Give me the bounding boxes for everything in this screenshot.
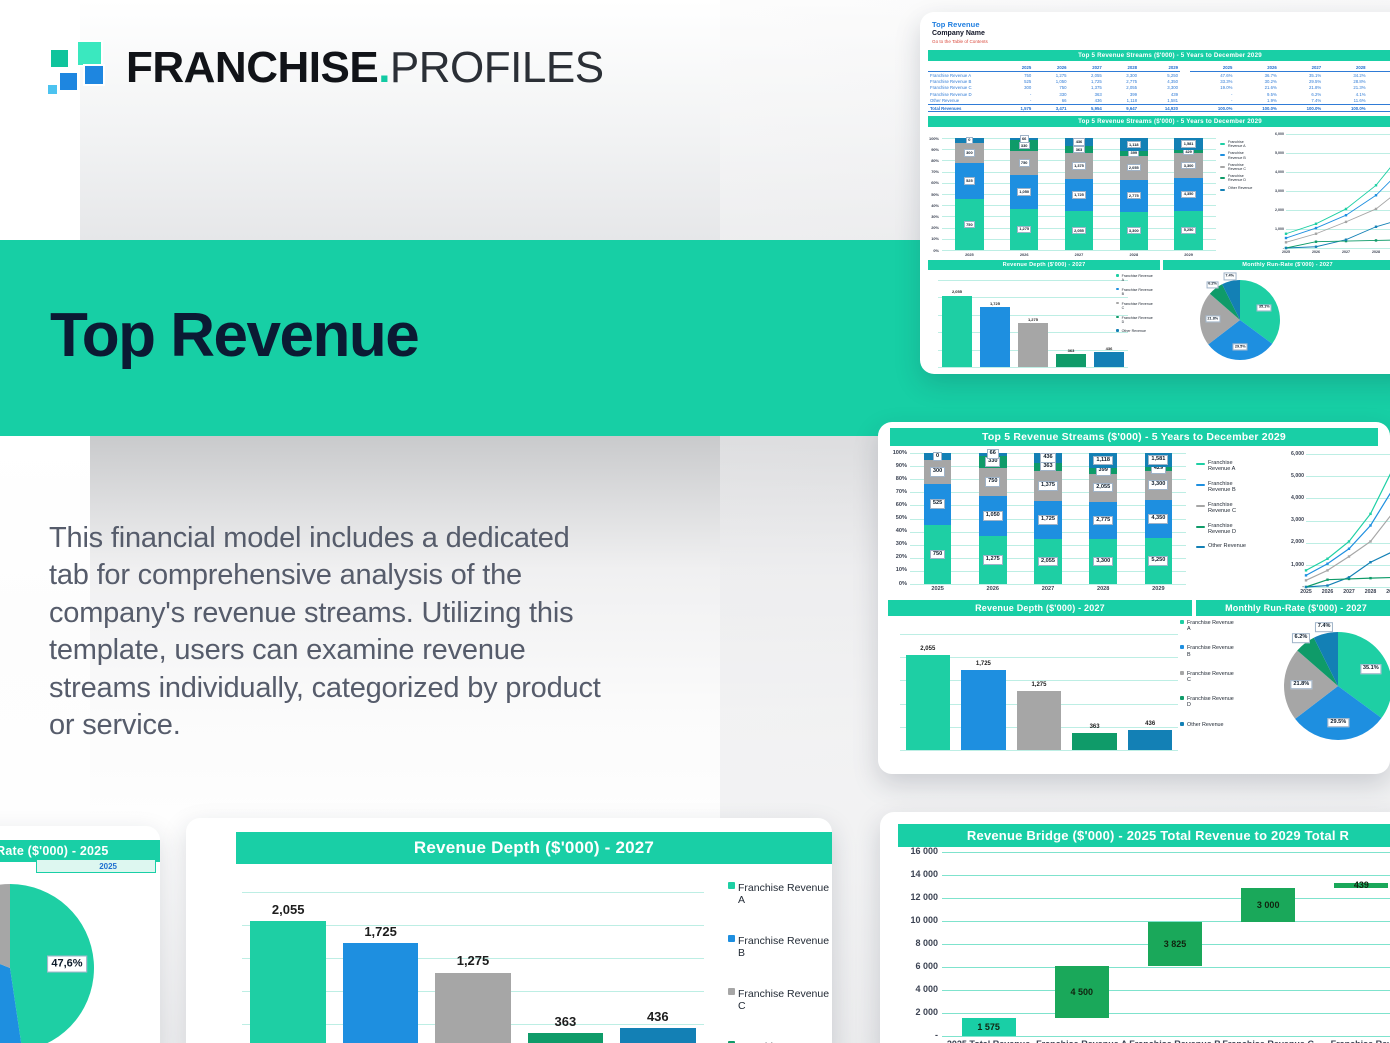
workbook-preview-panel[interactable]: Top Revenue Company Name Go to the Table… — [920, 12, 1390, 374]
bar[interactable] — [1094, 352, 1124, 367]
legend-label: Franchise Revenue D — [1187, 696, 1234, 708]
gridline — [942, 967, 1390, 968]
run-rate-title-strip-2: Monthly Run-Rate ($'000) - 2027 — [1196, 600, 1390, 616]
legend-label: FranchiseRevenue C — [1208, 502, 1236, 515]
x-axis-tick: 2025 Total Revenue — [942, 1039, 1035, 1043]
line-chart-small[interactable]: -1,0002,0003,0004,0005,0006,000202520262… — [1270, 130, 1390, 258]
legend-label: Franchise Revenue C — [1122, 302, 1153, 310]
run-rate-pie-2025[interactable]: 47,6%33,3%19,0%0,0%0,0% — [0, 878, 130, 1043]
legend-label: FranchiseRevenue D — [1208, 523, 1236, 536]
bar[interactable] — [980, 307, 1010, 367]
legend-item: Franchise Revenue B — [1180, 645, 1234, 657]
data-label: 2,775 — [1127, 192, 1141, 199]
x-axis-tick: 2026 — [1317, 589, 1339, 595]
squares-logo-icon — [46, 40, 108, 96]
stacked-segment: 2,055 — [1120, 156, 1148, 180]
table-row: Franchise Revenue A7501,2752,0553,3005,2… — [928, 72, 1390, 79]
stacked-segment: 1,275 — [1010, 209, 1038, 250]
logo-square-blue-small — [58, 71, 79, 92]
waterfall-value-label: 4 500 — [1055, 987, 1109, 997]
data-label: 5,250 — [1148, 556, 1168, 566]
bar-value-label: 363 — [528, 1014, 604, 1029]
brand-logo: FRANCHISE.PROFILES — [46, 40, 604, 96]
brand-name-light: PROFILES — [390, 43, 604, 92]
legend-item: Franchise Revenue D — [1116, 316, 1153, 324]
stacked-segment: 3,300 — [1120, 212, 1148, 250]
legend-swatch — [728, 988, 735, 995]
stacked-segment: 399 — [1120, 151, 1148, 156]
y-axis-tick: 4 000 — [888, 984, 938, 994]
legend-marker — [1196, 505, 1205, 507]
stacked-segment: 1,581 — [1145, 453, 1173, 467]
pie-slice[interactable] — [0, 884, 10, 968]
stacked-bar[interactable]: 5,2504,3503,3004291,581 — [1145, 453, 1173, 584]
gridline — [942, 898, 1390, 899]
y-axis-tick: 70% — [928, 169, 939, 174]
stacked-segment: 363 — [1034, 463, 1062, 471]
bar[interactable] — [1128, 730, 1172, 750]
legend-swatch — [1116, 274, 1119, 277]
legend-marker — [1196, 546, 1205, 548]
stacked-segment: 5,250 — [1145, 538, 1173, 584]
data-label: 0 — [966, 137, 973, 144]
stacked-segment: 0 — [955, 138, 983, 143]
data-label: 1,375 — [1038, 481, 1058, 491]
sheet-title: Top Revenue — [932, 20, 1390, 29]
revenue-depth-chart-big[interactable]: 2,0551,7251,275363436 — [226, 866, 706, 1043]
data-label: 1,275 — [983, 555, 1003, 565]
bar-value-label: 363 — [1072, 724, 1116, 730]
legend-label: FranchiseRevenue A — [1228, 140, 1246, 148]
gridline — [938, 367, 1128, 368]
company-name: Company Name — [932, 30, 1390, 37]
data-label: 1,581 — [1181, 140, 1195, 147]
y-axis-tick: 60% — [888, 502, 907, 508]
bar-value-label: 363 — [1056, 348, 1086, 353]
stacked-segment: 1,050 — [1010, 175, 1038, 209]
data-label: 1,050 — [983, 511, 1003, 521]
data-label: 0 — [933, 452, 942, 462]
bar[interactable] — [1017, 691, 1061, 750]
bar-value-label: 1,275 — [1018, 317, 1048, 322]
bar[interactable] — [961, 670, 1005, 750]
data-label: 1,050 — [1017, 188, 1031, 195]
legend-swatch — [1116, 329, 1119, 332]
bar[interactable] — [343, 943, 419, 1043]
data-label: 66 — [1020, 135, 1029, 142]
data-label: 66 — [987, 449, 999, 459]
y-axis-tick: 20% — [888, 554, 907, 560]
legend-swatch — [1116, 302, 1119, 305]
y-axis-tick: 40% — [888, 528, 907, 534]
data-label: 1,725 — [1072, 191, 1086, 198]
gridline — [938, 280, 1128, 281]
th-2026-abs: 2026 — [1033, 64, 1068, 72]
legend-label: Other Revenue — [1122, 329, 1146, 333]
legend-swatch — [728, 882, 735, 889]
legend-item: FranchiseRevenue D — [1196, 523, 1246, 536]
stacked-chart-legend-large: FranchiseRevenue AFranchiseRevenue BFran… — [1196, 460, 1246, 558]
stacked-bar[interactable]: 5,2504,3503,3004291,581 — [1174, 138, 1202, 250]
x-axis-tick: 2026 — [1301, 250, 1331, 254]
x-axis-tick: Franchise Revenue B — [1128, 1039, 1221, 1043]
data-label: 1,375 — [1072, 162, 1086, 169]
legend-item: Franchise Revenue C — [1116, 302, 1153, 310]
th-2029-pct: 2029 — [1368, 64, 1390, 72]
legend-marker — [1220, 166, 1225, 168]
pie-data-label: 7.4% — [1223, 273, 1236, 280]
stacked-segment: 2,775 — [1120, 180, 1148, 212]
th-2028-abs: 2028 — [1104, 64, 1139, 72]
logo-square-green-large — [76, 40, 103, 67]
x-axis-tick: 2028 — [1106, 252, 1161, 257]
stacked-segment: 1,725 — [1065, 179, 1093, 211]
table-title-strip: Top 5 Revenue Streams ($'000) - 5 Years … — [928, 50, 1390, 61]
gridline — [942, 250, 1216, 251]
bar-value-label: 1,275 — [1017, 682, 1061, 688]
data-label: 525 — [930, 499, 945, 509]
y-axis-tick: 100% — [888, 450, 907, 456]
stacked-segment: 399 — [1089, 468, 1117, 473]
bar[interactable] — [620, 1028, 696, 1043]
x-axis-tick: 2027 — [1338, 589, 1360, 595]
legend-item: FranchiseRevenue D — [1220, 174, 1252, 182]
y-axis-tick: 50% — [928, 192, 939, 197]
bar[interactable] — [942, 296, 972, 368]
stacked-bar[interactable]: 7505253000 — [924, 453, 952, 584]
table-header-row: 2025 2026 2027 2028 2029 2025 2026 2027 … — [928, 64, 1390, 72]
y-axis-tick: 50% — [888, 515, 907, 521]
pie-slices[interactable] — [1172, 270, 1312, 374]
table-total-row: Total Revenues1,5753,4715,9549,64714,920… — [928, 104, 1390, 111]
stacked-bar-chart-small[interactable]: 0%10%20%30%40%50%60%70%80%90%100%7505253… — [928, 134, 1218, 259]
y-axis-tick: 30% — [928, 214, 939, 219]
bar[interactable] — [250, 921, 326, 1043]
pie-data-label: 47,6% — [47, 955, 87, 972]
x-axis-tick: Franchise Revenue C — [1222, 1039, 1315, 1043]
legend-marker — [1220, 189, 1225, 191]
revenue-depth-legend-large: Franchise Revenue AFranchise Revenue BFr… — [1180, 620, 1234, 741]
gridline — [942, 875, 1390, 876]
y-axis-tick: - — [888, 1030, 938, 1040]
gridline — [900, 750, 1178, 751]
stacked-bar[interactable]: 2,0551,7251,375363436 — [1034, 453, 1062, 584]
stacked-segment: 1,118 — [1120, 138, 1148, 151]
gridline — [942, 990, 1390, 991]
data-label: 4,350 — [1181, 191, 1195, 198]
stacked-segment: 1,375 — [1065, 153, 1093, 179]
y-axis-tick: 10 000 — [888, 915, 938, 925]
legend-swatch — [1180, 696, 1184, 700]
stacked-bar[interactable]: 7505253000 — [955, 138, 983, 250]
bar-value-label: 1,725 — [343, 924, 419, 939]
stacked-bar[interactable]: 1,2751,05075033066 — [1010, 138, 1038, 250]
waterfall-value-label: 3 825 — [1148, 939, 1202, 949]
logo-square-blue-large — [83, 64, 105, 86]
stacked-segment: 1,275 — [979, 536, 1007, 584]
stacked-bar[interactable]: 3,3002,7752,0553991,118 — [1089, 453, 1117, 584]
legend-label: Franchise Revenue C — [1187, 671, 1234, 683]
x-axis-tick: 2029 — [1131, 586, 1186, 592]
legend-label: Franchise Revenue D — [1122, 316, 1153, 324]
stacked-segment: 750 — [924, 525, 952, 584]
y-axis-tick: 90% — [888, 463, 907, 469]
bar[interactable] — [435, 973, 511, 1043]
waterfall-bar[interactable]: 439 — [1334, 883, 1388, 888]
line-series-group — [1276, 448, 1390, 603]
x-axis-tick: 2028 — [1360, 589, 1382, 595]
pie-data-label: 35.1% — [1257, 304, 1272, 311]
legend-label: FranchiseRevenue D — [1228, 174, 1246, 182]
stacked-segment: 0 — [924, 453, 952, 460]
revenue-depth-chart-large[interactable]: 2,0551,7251,275363436 — [890, 620, 1180, 760]
th-2029-abs: 2029 — [1139, 64, 1180, 72]
stacked-segment: 2,775 — [1089, 502, 1117, 540]
stacked-segment: 3,300 — [1145, 471, 1173, 500]
bar-value-label: 1,725 — [961, 661, 1005, 667]
y-axis-tick: 70% — [888, 489, 907, 495]
legend-item: Franchise Revenue D — [1180, 696, 1234, 708]
revenue-depth-title-strip-2: Revenue Depth ($'000) - 2027 — [888, 600, 1192, 616]
legend-item: Franchise Revenue A — [1180, 620, 1234, 632]
stacked-segment: 750 — [1010, 151, 1038, 175]
y-axis-tick: 14 000 — [888, 869, 938, 879]
revenue-bridge-panel[interactable]: Revenue Bridge ($'000) - 2025 Total Reve… — [880, 812, 1390, 1043]
bar-value-label: 436 — [1094, 346, 1124, 351]
legend-item: Franchise Revenue B — [728, 935, 829, 959]
legend-item: FranchiseRevenue A — [1220, 140, 1252, 148]
bar-value-label: 1,725 — [980, 301, 1010, 306]
y-axis-tick: 100% — [928, 136, 939, 141]
waterfall-value-label: 439 — [1334, 880, 1388, 890]
data-label: 3,300 — [1148, 480, 1168, 490]
th-2026-pct: 2026 — [1234, 64, 1278, 72]
run-rate-title-strip-1: Monthly Run-Rate ($'000) - 2027 — [1163, 260, 1390, 270]
legend-swatch — [728, 935, 735, 942]
waterfall-bar[interactable]: 3 825 — [1148, 922, 1202, 966]
stacked-segment: 1,725 — [1034, 501, 1062, 539]
gridline — [942, 852, 1390, 853]
revenue-depth-title-big: Revenue Depth ($'000) - 2027 — [236, 832, 832, 864]
page-description: This financial model includes a dedicate… — [49, 520, 609, 744]
x-axis-tick: 2028 — [1361, 250, 1390, 254]
stacked-segment: 750 — [955, 199, 983, 250]
legend-item: FranchiseRevenue A — [1196, 460, 1246, 473]
waterfall-bar[interactable]: 1 575 — [962, 1018, 1016, 1036]
revenue-bridge-chart[interactable]: -2 0004 0006 0008 00010 00012 00014 0001… — [888, 844, 1390, 1043]
data-label: 300 — [964, 149, 975, 156]
pie-slices[interactable] — [1270, 620, 1390, 765]
data-label: 2,055 — [1072, 227, 1086, 234]
stacked-chart-title-strip-1: Top 5 Revenue Streams ($'000) - 5 Years … — [928, 116, 1390, 127]
stacked-bar[interactable]: 1,2751,05075033066 — [979, 453, 1007, 584]
y-axis-tick: 12 000 — [888, 892, 938, 902]
run-rate-pie-panel[interactable]: y Run-Rate ($'000) - 2025 2025 47,6%33,3… — [0, 826, 160, 1043]
pie-data-label: 21.8% — [1291, 680, 1312, 690]
revenue-depth-panel[interactable]: Revenue Depth ($'000) - 2027 2,0551,7251… — [186, 818, 832, 1043]
revenue-depth-legend-small: Franchise Revenue AFranchise Revenue BFr… — [1116, 274, 1153, 339]
data-label: 1,118 — [1127, 141, 1141, 148]
pie-data-label: 6.2% — [1292, 633, 1310, 643]
stacked-segment: 3,300 — [1089, 539, 1117, 584]
bar[interactable] — [1018, 323, 1048, 367]
data-label: 2,055 — [1093, 483, 1113, 493]
revenue-depth-title-strip-1: Revenue Depth ($'000) - 2027 — [928, 260, 1160, 270]
bar-value-label: 2,055 — [906, 646, 950, 652]
legend-marker — [1196, 484, 1205, 486]
stacked-bar[interactable]: 2,0551,7251,375363436 — [1065, 138, 1093, 250]
data-label: 750 — [964, 221, 975, 228]
legend-swatch — [1180, 645, 1184, 649]
table-row: Other Revenue-664361,1181,581-1.9%7.4%11… — [928, 98, 1390, 105]
gridline — [242, 892, 704, 893]
charts-zoom-panel[interactable]: Top 5 Revenue Streams ($'000) - 5 Years … — [878, 422, 1390, 774]
data-label: 2,055 — [1038, 557, 1058, 567]
stacked-chart-title-strip-2: Top 5 Revenue Streams ($'000) - 5 Years … — [890, 428, 1378, 446]
th-2025-pct: 2025 — [1190, 64, 1234, 72]
legend-swatch — [1180, 722, 1184, 726]
brand-name-bold: FRANCHISE — [126, 43, 378, 92]
waterfall-value-label: 3 000 — [1241, 900, 1295, 910]
data-label: 750 — [985, 477, 1000, 487]
gridline — [900, 634, 1178, 635]
stacked-segment: 1,118 — [1089, 453, 1117, 468]
data-label: 436 — [1040, 453, 1055, 463]
year-tab-label: 2025 — [99, 862, 117, 871]
y-axis-tick: 30% — [888, 541, 907, 547]
stacked-segment: 1,581 — [1174, 138, 1202, 150]
y-axis-tick: 40% — [928, 203, 939, 208]
pie-data-label: 35.1% — [1360, 665, 1381, 675]
revenue-depth-chart-small[interactable]: 2,0551,7251,275363436 — [930, 270, 1130, 374]
legend-label: Franchise Revenue C — [738, 988, 829, 1012]
waterfall-value-label: 1 575 — [962, 1022, 1016, 1032]
waterfall-bar[interactable]: 4 500 — [1055, 966, 1109, 1018]
y-axis-tick: 6 000 — [888, 961, 938, 971]
y-axis-tick: 20% — [928, 225, 939, 230]
stacked-segment: 4,350 — [1145, 500, 1173, 538]
legend-label: Other Revenue — [1228, 186, 1252, 190]
data-label: 5,250 — [1181, 227, 1195, 234]
legend-marker — [1196, 526, 1205, 528]
legend-label: Franchise Revenue A — [1187, 620, 1234, 632]
data-label: 1,118 — [1093, 456, 1113, 466]
data-label: 300 — [930, 467, 945, 477]
stacked-segment: 429 — [1145, 467, 1173, 471]
bar[interactable] — [906, 655, 950, 750]
data-label: 750 — [1019, 159, 1030, 166]
toc-link[interactable]: Go to the Table of Contents — [932, 39, 1390, 44]
th-2028-pct: 2028 — [1323, 64, 1367, 72]
stacked-segment: 66 — [1010, 138, 1038, 140]
bar-value-label: 2,055 — [250, 902, 326, 917]
legend-item: Other Revenue — [1196, 543, 1246, 549]
logo-square-lightblue — [46, 83, 59, 96]
y-axis-tick: 0% — [888, 581, 907, 587]
stacked-segment: 5,250 — [1174, 211, 1202, 250]
th-2027-pct: 2027 — [1279, 64, 1323, 72]
y-axis-tick: 80% — [928, 158, 939, 163]
stacked-segment: 4,350 — [1174, 178, 1202, 211]
gridline — [942, 1013, 1390, 1014]
y-axis-tick: 8 000 — [888, 938, 938, 948]
legend-swatch — [1116, 288, 1119, 291]
data-label: 4,350 — [1148, 514, 1168, 524]
stacked-bar-chart-large[interactable]: 0%10%20%30%40%50%60%70%80%90%100%7505253… — [888, 448, 1188, 598]
x-axis-tick: Franchise Revenue A — [1035, 1039, 1128, 1043]
legend-item: Franchise Revenue B — [1116, 288, 1153, 296]
legend-item: FranchiseRevenue B — [1220, 151, 1252, 159]
stacked-segment: 363 — [1065, 146, 1093, 153]
stacked-segment: 750 — [979, 468, 1007, 496]
stacked-segment: 1,375 — [1034, 471, 1062, 501]
legend-item: Franchise Revenue A — [728, 882, 829, 906]
data-label: 3,300 — [1093, 557, 1113, 567]
legend-item: Franchise Revenue C — [728, 988, 829, 1012]
revenue-table: 2025 2026 2027 2028 2029 2025 2026 2027 … — [928, 64, 1390, 112]
year-tab-chip[interactable]: 2025 — [36, 859, 156, 873]
x-axis-tick: 2029 — [1161, 252, 1216, 257]
legend-label: Franchise Revenue A — [1122, 274, 1153, 282]
th-2025-abs: 2025 — [998, 64, 1033, 72]
legend-marker — [1220, 177, 1225, 179]
legend-item: FranchiseRevenue C — [1196, 502, 1246, 515]
x-axis-tick: 2025 — [910, 586, 965, 592]
revenue-mix-pie-small[interactable]: 35.1%29.5%21.8%6.2%7.4% — [1172, 270, 1312, 374]
revenue-mix-pie-large[interactable]: 35.1%29.5%21.8%6.2%7.4% — [1270, 620, 1390, 765]
line-series-group — [1270, 130, 1390, 258]
line-chart-large[interactable]: -1,0002,0003,0004,0005,0006,000202520262… — [1276, 448, 1390, 603]
stacked-bar[interactable]: 3,3002,7752,0553991,118 — [1120, 138, 1148, 250]
brand-dot: . — [378, 43, 390, 92]
y-axis-tick: 60% — [928, 180, 939, 185]
stacked-segment: 66 — [979, 453, 1007, 455]
waterfall-bar[interactable]: 3 000 — [1241, 888, 1295, 923]
data-label: 3,300 — [1181, 162, 1195, 169]
data-label: 363 — [1073, 146, 1084, 153]
stacked-segment: 525 — [955, 163, 983, 199]
legend-item: FranchiseRevenue B — [1196, 481, 1246, 494]
data-label: 1,581 — [1148, 455, 1168, 465]
legend-swatch — [1180, 671, 1184, 675]
legend-label: Franchise Revenue B — [1122, 288, 1153, 296]
bar[interactable] — [1072, 733, 1116, 750]
bar[interactable] — [1056, 354, 1086, 367]
x-axis-tick: 2025 — [1271, 250, 1301, 254]
y-axis-tick: 90% — [928, 147, 939, 152]
legend-marker — [1220, 154, 1225, 156]
workbook-header: Top Revenue Company Name Go to the Table… — [920, 12, 1390, 44]
y-axis-tick: 0% — [928, 248, 939, 253]
x-axis-tick: 2027 — [1020, 586, 1075, 592]
stacked-segment: 2,055 — [1089, 474, 1117, 502]
th-2027-abs: 2027 — [1069, 64, 1104, 72]
x-axis-tick: 2028 — [1076, 586, 1131, 592]
y-axis-tick: 80% — [888, 476, 907, 482]
legend-swatch — [1116, 316, 1119, 319]
brand-wordmark: FRANCHISE.PROFILES — [126, 46, 604, 90]
bar-value-label: 436 — [1128, 721, 1172, 727]
stacked-segment: 1,050 — [979, 496, 1007, 536]
stacked-segment: 300 — [924, 460, 952, 484]
bar[interactable] — [528, 1033, 604, 1043]
stacked-segment: 300 — [955, 143, 983, 163]
logo-square-green-small — [49, 48, 70, 69]
stacked-segment: 436 — [1065, 138, 1093, 146]
data-label: 1,725 — [1038, 515, 1058, 525]
legend-item: Other Revenue — [1116, 329, 1153, 333]
x-axis-tick: 2025 — [1295, 589, 1317, 595]
